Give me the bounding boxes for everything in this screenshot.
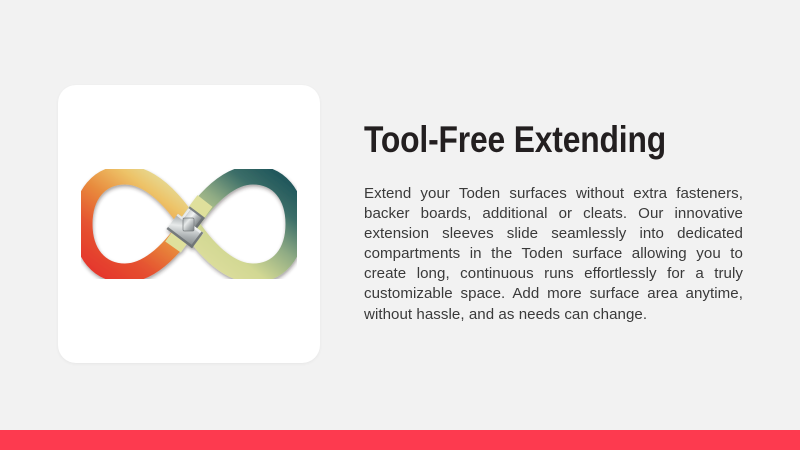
bottom-accent-bar [0,430,800,450]
media-card [58,85,320,363]
slide-canvas: Tool-Free Extending Extend your Toden su… [0,0,800,450]
page-title: Tool-Free Extending [364,118,691,162]
text-column: Tool-Free Extending Extend your Toden su… [364,118,744,325]
infinity-logo [81,169,297,279]
body-paragraph: Extend your Toden surfaces without extra… [364,162,743,325]
